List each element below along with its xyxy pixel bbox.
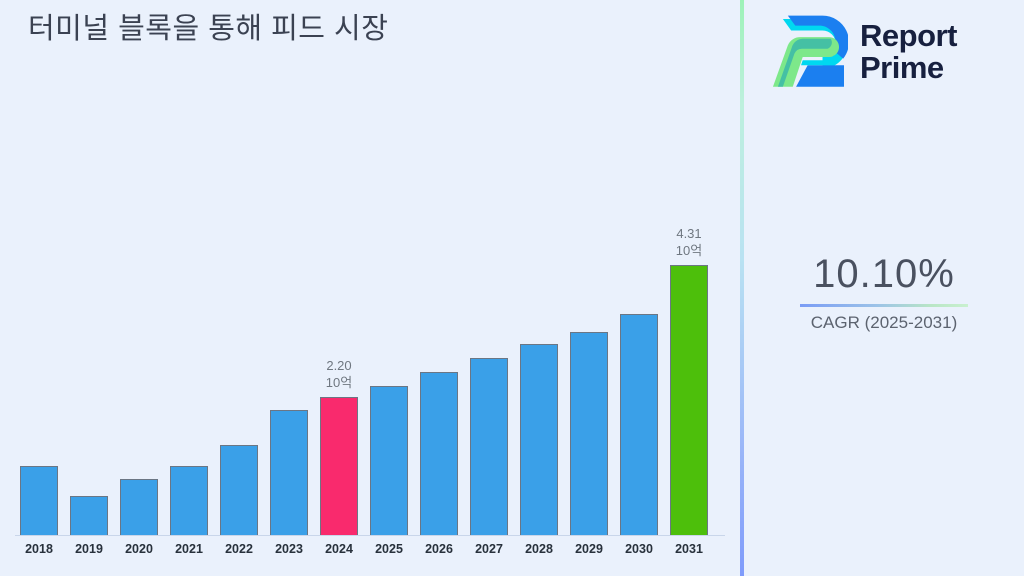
logo-wordmark: Report Prime	[860, 20, 957, 84]
report-prime-logo: Report Prime	[764, 14, 957, 90]
bar-rect-2023[interactable]	[270, 410, 308, 535]
report-prime-mark-icon	[764, 14, 848, 90]
cagr-value: 10.10%	[744, 250, 1024, 298]
bar-rect-2026[interactable]	[420, 372, 458, 535]
logo-line-2: Prime	[860, 52, 957, 84]
bar-rect-2031[interactable]	[670, 265, 708, 535]
cagr-block: 10.10% CAGR (2025-2031)	[744, 250, 1024, 335]
cagr-caption: CAGR (2025-2031)	[744, 311, 1024, 335]
bar-rect-2029[interactable]	[570, 332, 608, 535]
bar-chart: 2.20 10억4.31 10억 20182019202020212022202…	[0, 0, 740, 576]
bar-rect-2018[interactable]	[20, 466, 58, 535]
bar-rect-2020[interactable]	[120, 479, 158, 535]
brand-panel: Report Prime 10.10% CAGR (2025-2031)	[744, 0, 1024, 576]
bar-rect-2030[interactable]	[620, 314, 658, 535]
bar-rect-2019[interactable]	[70, 496, 108, 535]
bar-rect-2025[interactable]	[370, 386, 408, 535]
bar-value-label-2024: 2.20 10억	[298, 357, 380, 391]
x-axis-line	[15, 535, 725, 536]
bar-rect-2024[interactable]	[320, 397, 358, 535]
bar-value-label-2031: 4.31 10억	[648, 225, 730, 259]
cagr-divider-rule	[800, 304, 968, 307]
bar-rect-2021[interactable]	[170, 466, 208, 535]
bar-rect-2027[interactable]	[470, 358, 508, 535]
logo-line-1: Report	[860, 20, 957, 52]
x-tick-2031: 2031	[658, 542, 720, 556]
infographic-canvas: 터미널 블록을 통해 피드 시장 2.20 10억4.31 10억 201820…	[0, 0, 1024, 576]
bar-rect-2028[interactable]	[520, 344, 558, 535]
bar-rect-2022[interactable]	[220, 445, 258, 535]
